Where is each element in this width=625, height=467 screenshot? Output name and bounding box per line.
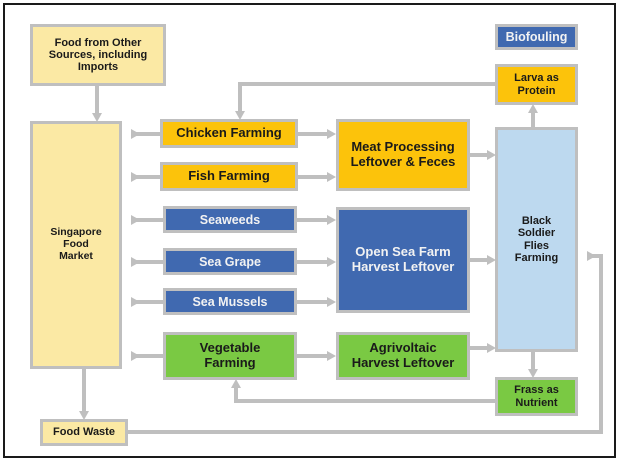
node-biofouling[interactable]: Biofouling [495, 24, 578, 50]
node-line: Harvest Leftover [349, 356, 458, 371]
node-line: Agrivoltaic [349, 341, 458, 356]
node-label: Sea Grape [193, 255, 267, 269]
node-line: Sea Mussels [189, 295, 270, 309]
node-label: Seaweeds [194, 213, 266, 227]
node-vegetable-farming[interactable]: Vegetable Farming [163, 332, 297, 380]
node-label: Food from Other Sources, including Impor… [43, 37, 153, 74]
node-label: Open Sea Farm Harvest Leftover [346, 245, 461, 274]
node-larva-as-protein[interactable]: Larva as Protein [495, 64, 578, 105]
node-label: Vegetable Farming [194, 341, 267, 370]
node-singapore-food-market[interactable]: Singapore Food Market [30, 121, 122, 369]
node-line: Nutrient [511, 397, 562, 409]
connector-frass-to-vegetable [236, 388, 495, 401]
node-line: Farming [197, 356, 264, 371]
node-line: Open Sea Farm [349, 245, 458, 260]
node-line: Harvest Leftover [349, 260, 458, 275]
node-line: Market [47, 251, 104, 263]
node-line: Food Waste [50, 426, 118, 438]
node-line: Biofouling [503, 30, 571, 44]
node-seaweeds[interactable]: Seaweeds [163, 206, 297, 233]
node-line: Soldier [512, 227, 561, 239]
node-line: Food from Other [46, 37, 150, 49]
node-line: Flies [512, 240, 561, 252]
node-line: Frass as [511, 384, 562, 396]
node-line: Fish Farming [185, 169, 273, 184]
node-line: Farming [512, 252, 561, 264]
node-frass-as-nutrient[interactable]: Frass as Nutrient [495, 377, 578, 416]
node-agrivoltaic-harvest-leftover[interactable]: Agrivoltaic Harvest Leftover [336, 332, 470, 380]
diagram-canvas: Food from Other Sources, including Impor… [0, 0, 625, 467]
node-line: Sources, including [46, 49, 150, 61]
node-sea-grape[interactable]: Sea Grape [163, 248, 297, 275]
node-label: Agrivoltaic Harvest Leftover [346, 341, 461, 370]
node-label: Fish Farming [182, 169, 276, 184]
node-fish-farming[interactable]: Fish Farming [160, 162, 298, 191]
node-line: Larva as [511, 72, 562, 84]
node-sea-mussels[interactable]: Sea Mussels [163, 288, 297, 315]
node-food-other-sources[interactable]: Food from Other Sources, including Impor… [30, 24, 166, 86]
node-line: Sea Grape [196, 255, 264, 269]
node-line: Imports [46, 61, 150, 73]
node-label: Biofouling [500, 30, 574, 44]
node-label: Black Soldier Flies Farming [509, 215, 564, 264]
node-food-waste[interactable]: Food Waste [40, 419, 128, 446]
node-chicken-farming[interactable]: Chicken Farming [160, 119, 298, 148]
node-label: Frass as Nutrient [508, 384, 565, 409]
node-line: Vegetable [197, 341, 264, 356]
node-black-soldier-flies-farming[interactable]: Black Soldier Flies Farming [495, 127, 578, 352]
node-label: Sea Mussels [186, 295, 273, 309]
node-line: Chicken Farming [173, 126, 284, 141]
node-open-sea-farm[interactable]: Open Sea Farm Harvest Leftover [336, 207, 470, 313]
node-line: Leftover & Feces [348, 155, 459, 170]
node-label: Food Waste [47, 426, 121, 438]
node-label: Singapore Food Market [44, 227, 107, 262]
node-line: Black [512, 215, 561, 227]
node-label: Larva as Protein [508, 72, 565, 97]
node-line: Protein [511, 85, 562, 97]
connector-larva-to-chicken [240, 84, 495, 111]
node-label: Chicken Farming [170, 126, 287, 141]
node-line: Meat Processing [348, 140, 459, 155]
node-label: Meat Processing Leftover & Feces [345, 140, 462, 169]
node-meat-processing[interactable]: Meat Processing Leftover & Feces [336, 119, 470, 191]
node-line: Seaweeds [197, 213, 263, 227]
